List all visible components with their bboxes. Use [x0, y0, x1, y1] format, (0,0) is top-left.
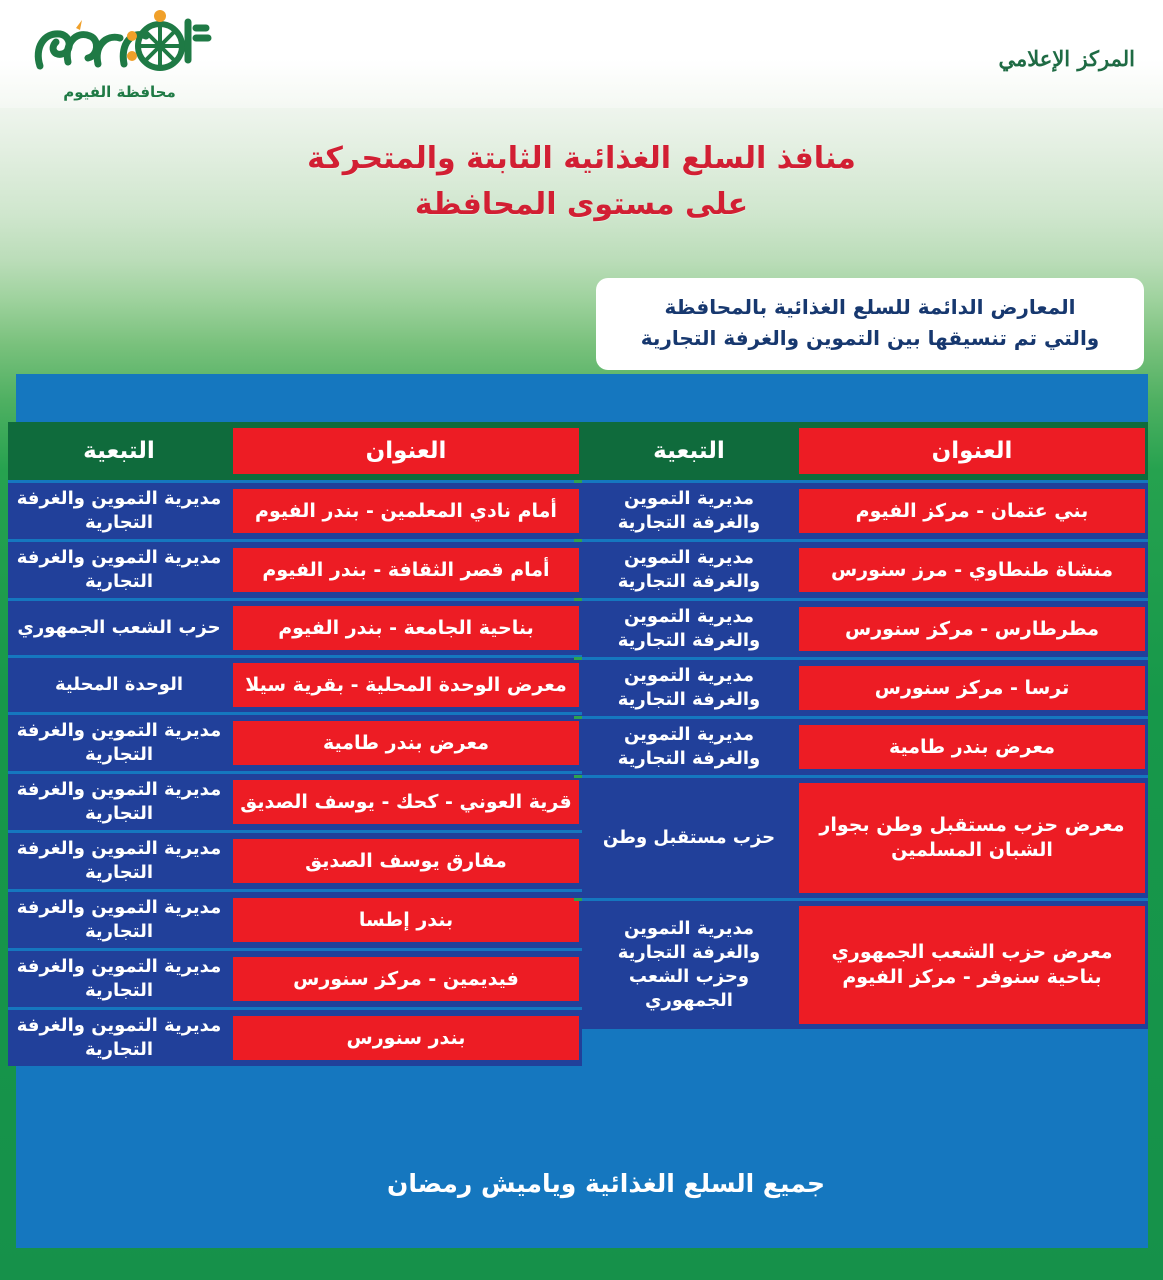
address-chip: بندر إطسا: [233, 898, 579, 942]
table-row: مفارق يوسف الصديقمديرية التموين والغرفة …: [8, 830, 582, 889]
table-cell-address: منشاة طنطاوي - مرز سنورس: [796, 542, 1148, 598]
table-cell-affiliation: مديرية التموين والغرفة التجارية: [8, 892, 230, 948]
table-cell-address: معرض الوحدة المحلية - بقرية سيلا: [230, 658, 582, 712]
table-cell-affiliation: حزب الشعب الجمهوري: [8, 601, 230, 655]
table-right-header-address: العنوان: [230, 422, 582, 480]
table-row: أمام قصر الثقافة - بندر الفيوممديرية الت…: [8, 539, 582, 598]
table-cell-affiliation: مديرية التموين والغرفة التجارية: [8, 1010, 230, 1066]
logo-calligraphy-icon: [20, 4, 220, 82]
table-cell-address: مطرطارس - مركز سنورس: [796, 601, 1148, 657]
table-cell-address: قرية العوني - كحك - يوسف الصديق: [230, 774, 582, 830]
table-cell-affiliation: مديرية التموين والغرفة التجارية: [582, 483, 796, 539]
table-left: العنوان التبعية بني عتمان - مركز الفيومم…: [582, 422, 1148, 1029]
table-left-header-row: العنوان التبعية: [582, 422, 1148, 480]
address-chip: بني عتمان - مركز الفيوم: [799, 489, 1145, 533]
table-left-header-address: العنوان: [796, 422, 1148, 480]
address-chip: منشاة طنطاوي - مرز سنورس: [799, 548, 1145, 592]
table-cell-affiliation: مديرية التموين والغرفة التجارية: [8, 483, 230, 539]
table-right-body: أمام نادي المعلمين - بندر الفيوممديرية ا…: [8, 480, 582, 1066]
media-center-label: المركز الإعلامي: [999, 46, 1135, 71]
table-cell-affiliation: مديرية التموين والغرفة التجارية وحزب الش…: [582, 901, 796, 1029]
tables-container: العنوان التبعية أمام نادي المعلمين - بند…: [8, 422, 1148, 1066]
table-cell-address: ترسا - مركز سنورس: [796, 660, 1148, 716]
footer-banner-text: جميع السلع الغذائية وياميش رمضان: [387, 1169, 825, 1198]
table-row: أمام نادي المعلمين - بندر الفيوممديرية ا…: [8, 480, 582, 539]
table-cell-address: بندر إطسا: [230, 892, 582, 948]
table-row: بندر سنورسمديرية التموين والغرفة التجاري…: [8, 1007, 582, 1066]
table-cell-address: أمام قصر الثقافة - بندر الفيوم: [230, 542, 582, 598]
table-row: معرض حزب الشعب الجمهوري بناحية سنوفر - م…: [582, 898, 1148, 1029]
fayoum-governorate-logo: محافظة الفيوم: [12, 4, 227, 104]
table-cell-affiliation: الوحدة المحلية: [8, 658, 230, 712]
page-title-line1: منافذ السلع الغذائية الثابتة والمتحركة: [0, 136, 1163, 182]
table-row: معرض بندر طاميةمديرية التموين والغرفة ال…: [582, 716, 1148, 775]
table-row: قرية العوني - كحك - يوسف الصديقمديرية ال…: [8, 771, 582, 830]
subtitle-line2: والتي تم تنسيقها بين التموين والغرفة الت…: [614, 323, 1126, 354]
table-row: معرض حزب مستقبل وطن بجوار الشبان المسلمي…: [582, 775, 1148, 898]
subtitle-line1: المعارض الدائمة للسلع الغذائية بالمحافظة: [614, 292, 1126, 323]
table-cell-address: مفارق يوسف الصديق: [230, 833, 582, 889]
table-cell-affiliation: مديرية التموين والغرفة التجارية: [582, 719, 796, 775]
table-left-header-affiliation: التبعية: [582, 422, 796, 480]
address-chip: مطرطارس - مركز سنورس: [799, 607, 1145, 651]
table-left-body: بني عتمان - مركز الفيوممديرية التموين وا…: [582, 480, 1148, 1029]
table-cell-affiliation: مديرية التموين والغرفة التجارية: [8, 774, 230, 830]
address-chip: ترسا - مركز سنورس: [799, 666, 1145, 710]
table-cell-affiliation: مديرية التموين والغرفة التجارية: [8, 542, 230, 598]
table-row: منشاة طنطاوي - مرز سنورسمديرية التموين و…: [582, 539, 1148, 598]
address-chip: بناحية الجامعة - بندر الفيوم: [233, 606, 579, 650]
table-left-header-address-chip: العنوان: [799, 428, 1145, 474]
table-cell-address: معرض بندر طامية: [230, 715, 582, 771]
table-row: معرض بندر طاميةمديرية التموين والغرفة ال…: [8, 712, 582, 771]
table-row: بندر إطسامديرية التموين والغرفة التجارية: [8, 889, 582, 948]
table-cell-address: بناحية الجامعة - بندر الفيوم: [230, 601, 582, 655]
address-chip: معرض الوحدة المحلية - بقرية سيلا: [233, 663, 579, 707]
subtitle-card: المعارض الدائمة للسلع الغذائية بالمحافظة…: [596, 278, 1144, 370]
table-cell-address: أمام نادي المعلمين - بندر الفيوم: [230, 483, 582, 539]
table-cell-address: معرض حزب مستقبل وطن بجوار الشبان المسلمي…: [796, 778, 1148, 898]
table-cell-affiliation: مديرية التموين والغرفة التجارية: [582, 542, 796, 598]
table-cell-address: معرض حزب الشعب الجمهوري بناحية سنوفر - م…: [796, 901, 1148, 1029]
table-right-header-row: العنوان التبعية: [8, 422, 582, 480]
table-cell-affiliation: مديرية التموين والغرفة التجارية: [582, 660, 796, 716]
page-title: منافذ السلع الغذائية الثابتة والمتحركة ع…: [0, 136, 1163, 228]
table-row: مطرطارس - مركز سنورسمديرية التموين والغر…: [582, 598, 1148, 657]
table-cell-address: بني عتمان - مركز الفيوم: [796, 483, 1148, 539]
table-row: فيديمين - مركز سنورسمديرية التموين والغر…: [8, 948, 582, 1007]
table-row: معرض الوحدة المحلية - بقرية سيلاالوحدة ا…: [8, 655, 582, 712]
table-cell-affiliation: مديرية التموين والغرفة التجارية: [8, 951, 230, 1007]
table-right-header-address-chip: العنوان: [233, 428, 579, 474]
address-chip: قرية العوني - كحك - يوسف الصديق: [233, 780, 579, 824]
table-cell-affiliation: مديرية التموين والغرفة التجارية: [582, 601, 796, 657]
table-row: بني عتمان - مركز الفيوممديرية التموين وا…: [582, 480, 1148, 539]
table-cell-affiliation: مديرية التموين والغرفة التجارية: [8, 833, 230, 889]
address-chip: معرض حزب مستقبل وطن بجوار الشبان المسلمي…: [799, 783, 1145, 893]
table-row: بناحية الجامعة - بندر الفيومحزب الشعب ال…: [8, 598, 582, 655]
address-chip: فيديمين - مركز سنورس: [233, 957, 579, 1001]
address-chip: معرض بندر طامية: [799, 725, 1145, 769]
address-chip: معرض بندر طامية: [233, 721, 579, 765]
table-right: العنوان التبعية أمام نادي المعلمين - بند…: [8, 422, 582, 1066]
address-chip: أمام نادي المعلمين - بندر الفيوم: [233, 489, 579, 533]
table-row: ترسا - مركز سنورسمديرية التموين والغرفة …: [582, 657, 1148, 716]
logo-subtitle: محافظة الفيوم: [12, 83, 227, 101]
address-chip: بندر سنورس: [233, 1016, 579, 1060]
address-chip: مفارق يوسف الصديق: [233, 839, 579, 883]
table-right-header-affiliation: التبعية: [8, 422, 230, 480]
table-cell-affiliation: حزب مستقبل وطن: [582, 778, 796, 898]
table-cell-address: فيديمين - مركز سنورس: [230, 951, 582, 1007]
table-cell-address: بندر سنورس: [230, 1010, 582, 1066]
address-chip: معرض حزب الشعب الجمهوري بناحية سنوفر - م…: [799, 906, 1145, 1024]
address-chip: أمام قصر الثقافة - بندر الفيوم: [233, 548, 579, 592]
table-cell-affiliation: مديرية التموين والغرفة التجارية: [8, 715, 230, 771]
footer-banner: جميع السلع الغذائية وياميش رمضان: [64, 1119, 1148, 1248]
page-title-line2: على مستوى المحافظة: [0, 182, 1163, 228]
table-cell-address: معرض بندر طامية: [796, 719, 1148, 775]
